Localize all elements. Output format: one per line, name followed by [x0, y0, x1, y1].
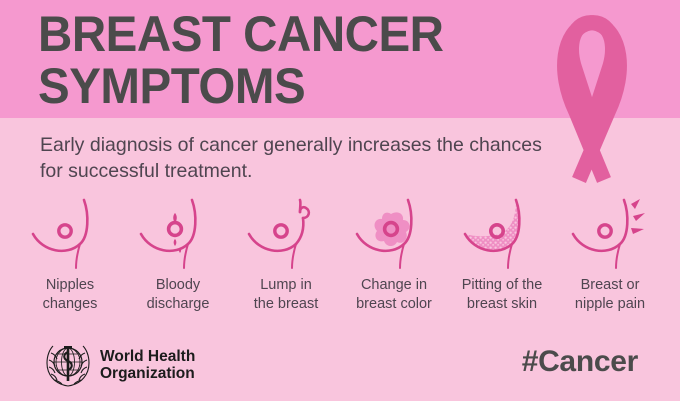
infographic-poster: BREAST CANCER SYMPTOMS Early diagnosis o…: [0, 0, 680, 401]
symptom-item: Pitting of the breast skin: [448, 196, 556, 314]
symptom-label: Pitting of the breast skin: [462, 276, 543, 314]
breast-color-change-icon: [351, 196, 437, 270]
hashtag: #Cancer: [522, 345, 638, 379]
who-name: World Health Organization: [100, 348, 195, 383]
who-emblem-icon: [44, 341, 92, 389]
title-line-2: SYMPTOMS: [38, 60, 513, 112]
breast-nipple-pain-icon: [567, 196, 653, 270]
symptom-item: Change in breast color: [340, 196, 448, 314]
breast-skin-pitting-icon: [459, 196, 545, 270]
symptoms-list: Nipples changes Bloody discharge: [16, 196, 664, 314]
symptom-item: Nipples changes: [16, 196, 124, 314]
symptom-item: Breast or nipple pain: [556, 196, 664, 314]
breast-bloody-discharge-icon: [135, 196, 221, 270]
symptom-item: Bloody discharge: [124, 196, 232, 314]
breast-nipple-change-icon: [27, 196, 113, 270]
symptom-label: Change in breast color: [356, 276, 432, 314]
awareness-ribbon-icon: [546, 8, 656, 188]
symptom-item: Lump in the breast: [232, 196, 340, 314]
symptom-label: Breast or nipple pain: [575, 276, 645, 314]
breast-lump-icon: [243, 196, 329, 270]
page-title: BREAST CANCER SYMPTOMS: [38, 8, 538, 112]
intro-text: Early diagnosis of cancer generally incr…: [40, 132, 560, 184]
symptom-label: Nipples changes: [43, 276, 98, 314]
symptom-label: Bloody discharge: [147, 276, 210, 314]
title-line-1: BREAST CANCER: [38, 8, 513, 60]
symptom-label: Lump in the breast: [254, 276, 319, 314]
who-logo: World Health Organization: [44, 341, 195, 389]
